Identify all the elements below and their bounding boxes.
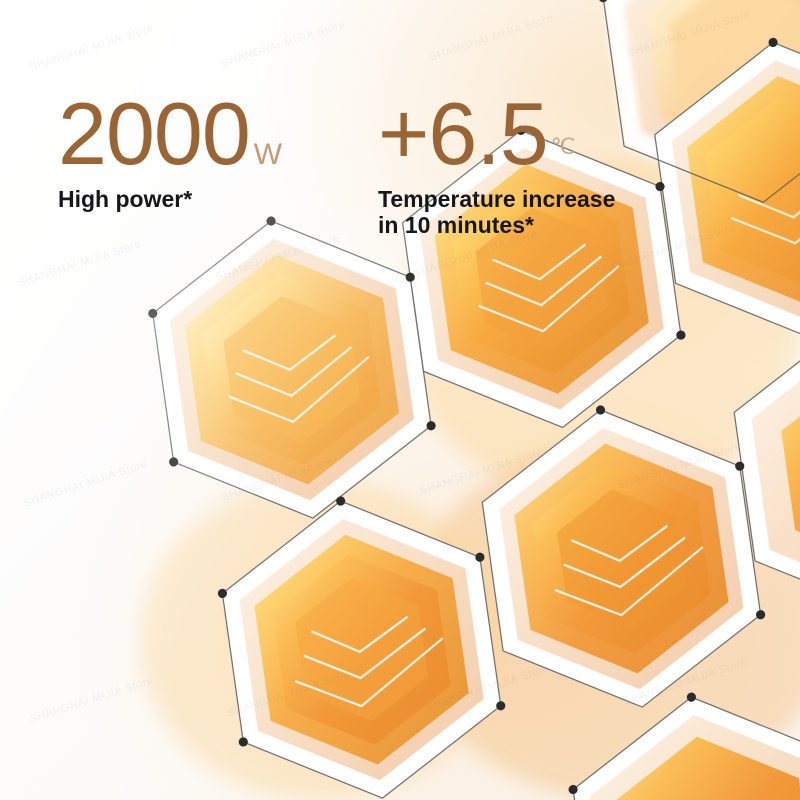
stats-overlay: 2000 W High power* +6.5 ℃ Temperature in… xyxy=(0,0,800,800)
promo-image: SHANGHAI MIJIA StoreSHANGHAI MIJIA Store… xyxy=(0,0,800,800)
temperature-value: +6.5 xyxy=(378,92,548,176)
stat-temperature: +6.5 ℃ Temperature increase in 10 minute… xyxy=(378,92,615,239)
temperature-value-row: +6.5 ℃ xyxy=(378,92,615,176)
stat-power: 2000 W High power* xyxy=(58,92,282,212)
power-caption: High power* xyxy=(58,186,282,213)
power-value-row: 2000 W xyxy=(58,92,282,176)
temperature-caption: Temperature increase in 10 minutes* xyxy=(378,186,615,239)
temperature-unit: ℃ xyxy=(551,136,576,158)
power-value: 2000 xyxy=(58,92,250,176)
power-unit: W xyxy=(254,140,282,170)
